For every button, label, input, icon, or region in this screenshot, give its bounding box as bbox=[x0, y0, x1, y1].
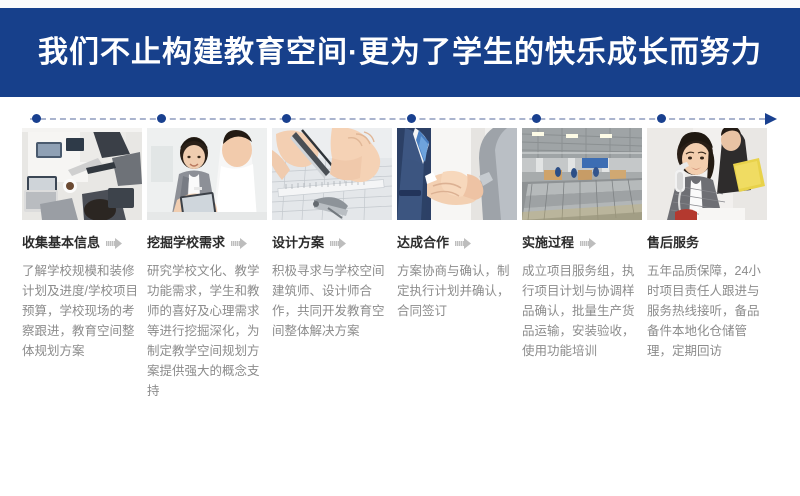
top-strip bbox=[0, 0, 800, 8]
arrow-right-icon bbox=[580, 238, 596, 249]
step-title: 实施过程 bbox=[522, 234, 574, 252]
step-header: 设计方案 bbox=[272, 234, 392, 252]
step-title: 达成合作 bbox=[397, 234, 449, 252]
step-title: 设计方案 bbox=[272, 234, 324, 252]
step-body: 五年品质保障，24小时项目责任人跟进与服务热线接听，备品备件本地化仓储管理，定期… bbox=[647, 261, 765, 361]
factory-line-photo bbox=[522, 128, 642, 220]
arrow-right-icon bbox=[455, 238, 471, 249]
step-item: 达成合作 方案协商与确认，制定执行计划并确认，合同签订 bbox=[397, 128, 517, 401]
step-body: 了解学校规模和装修计划及进度/学校项目预算，学校现场的考察跟进，教育空间整体规划… bbox=[22, 261, 140, 361]
arrow-right-icon bbox=[765, 113, 777, 125]
timeline-dot bbox=[657, 114, 666, 123]
timeline-dashed-line bbox=[30, 118, 765, 120]
step-header: 实施过程 bbox=[522, 234, 642, 252]
page-title: 我们不止构建教育空间·更为了学生的快乐成长而努力 bbox=[38, 38, 762, 68]
step-title: 收集基本信息 bbox=[22, 234, 100, 252]
arrow-right-icon bbox=[106, 238, 122, 249]
step-list: 收集基本信息 了解学校规模和装修计划及进度/学校项目预算，学校现场的考察跟进，教… bbox=[22, 128, 778, 401]
step-header: 售后服务 bbox=[647, 234, 767, 252]
consultation-photo bbox=[147, 128, 267, 220]
step-item: 挖掘学校需求 研究学校文化、教学功能需求，学生和教师的喜好及心理需求等进行挖掘深… bbox=[147, 128, 267, 401]
arrow-right-icon bbox=[330, 238, 346, 249]
timeline-dot bbox=[282, 114, 291, 123]
step-body: 研究学校文化、教学功能需求，学生和教师的喜好及心理需求等进行挖掘深化，为制定教学… bbox=[147, 261, 265, 401]
page-root: 我们不止构建教育空间·更为了学生的快乐成长而努力 bbox=[0, 0, 800, 496]
step-item: 设计方案 积极寻求与学校空间建筑师、设计师合作，共同开发教育空间整体解决方案 bbox=[272, 128, 392, 401]
timeline-dot bbox=[32, 114, 41, 123]
handshake-photo bbox=[397, 128, 517, 220]
step-title: 售后服务 bbox=[647, 234, 699, 252]
step-header: 达成合作 bbox=[397, 234, 517, 252]
step-item: 售后服务 五年品质保障，24小时项目责任人跟进与服务热线接听，备品备件本地化仓储… bbox=[647, 128, 767, 401]
timeline bbox=[0, 112, 800, 126]
timeline-dot bbox=[157, 114, 166, 123]
timeline-dot bbox=[532, 114, 541, 123]
step-header: 收集基本信息 bbox=[22, 234, 142, 252]
step-header: 挖掘学校需求 bbox=[147, 234, 267, 252]
arrow-right-icon bbox=[231, 238, 247, 249]
step-body: 成立项目服务组，执行项目计划与协调样品确认，批量生产货品运输，安装验收，使用功能… bbox=[522, 261, 640, 361]
step-item: 实施过程 成立项目服务组，执行项目计划与协调样品确认，批量生产货品运输，安装验收… bbox=[522, 128, 642, 401]
timeline-dot bbox=[407, 114, 416, 123]
blueprint-drafting-photo bbox=[272, 128, 392, 220]
step-title: 挖掘学校需求 bbox=[147, 234, 225, 252]
meeting-table-photo bbox=[22, 128, 142, 220]
step-item: 收集基本信息 了解学校规模和装修计划及进度/学校项目预算，学校现场的考察跟进，教… bbox=[22, 128, 142, 401]
hero-banner: 我们不止构建教育空间·更为了学生的快乐成长而努力 bbox=[0, 8, 800, 97]
step-body: 方案协商与确认，制定执行计划并确认，合同签订 bbox=[397, 261, 515, 321]
step-body: 积极寻求与学校空间建筑师、设计师合作，共同开发教育空间整体解决方案 bbox=[272, 261, 390, 341]
customer-service-photo bbox=[647, 128, 767, 220]
